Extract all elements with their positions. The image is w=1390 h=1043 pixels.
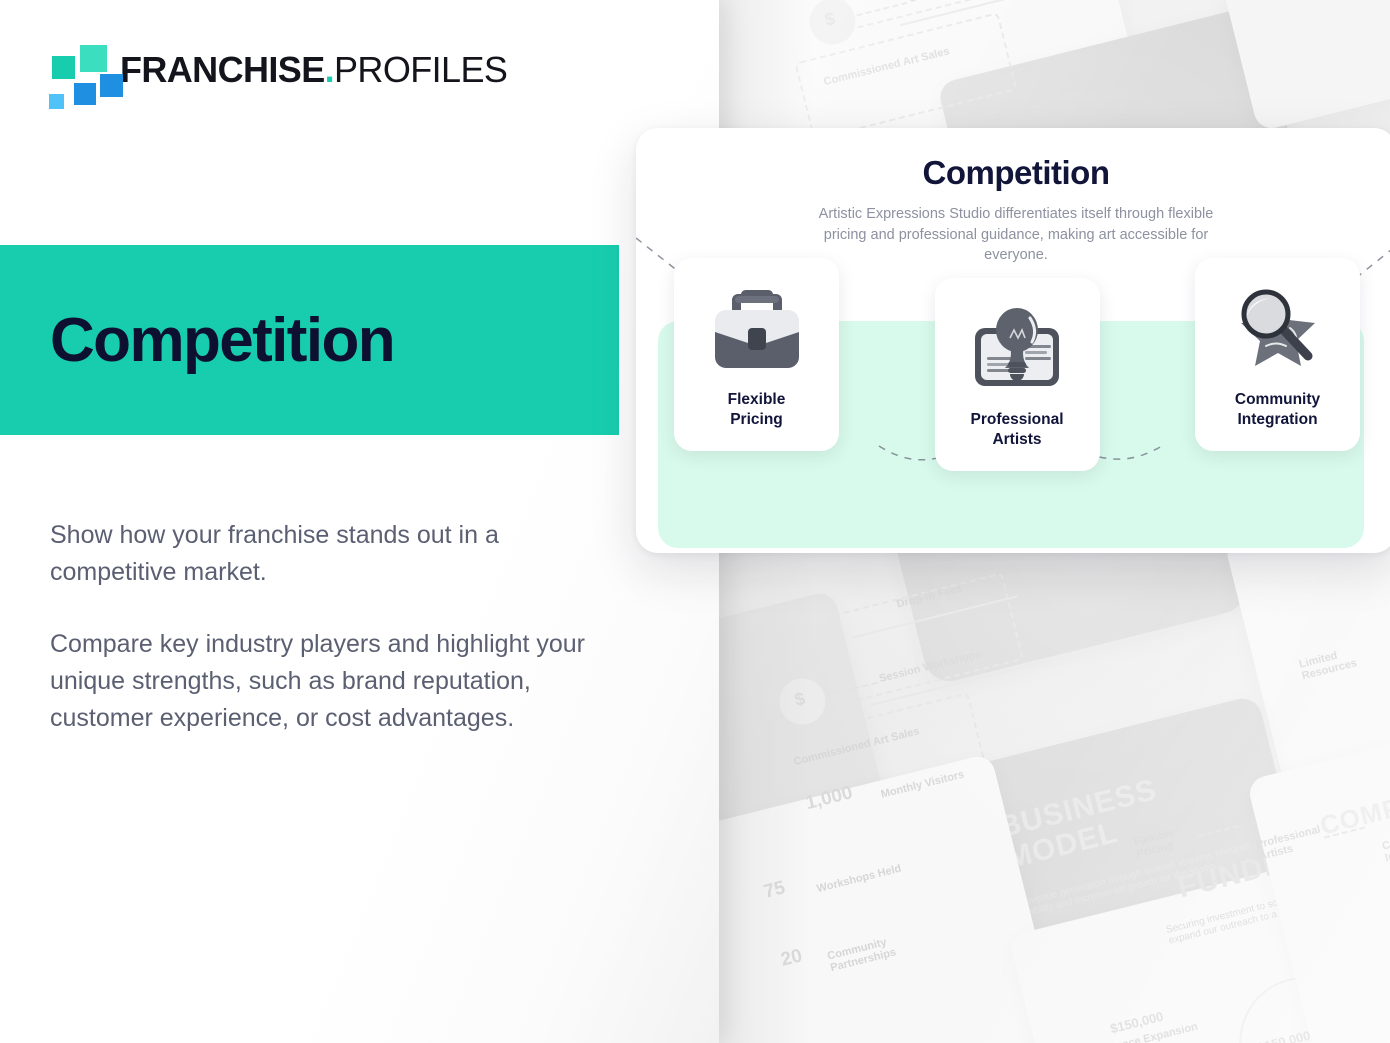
page-title: Competition [50, 305, 394, 376]
feature-card-flexible-pricing[interactable]: Flexible Pricing [674, 258, 839, 451]
brand-name-light: PROFILES [334, 49, 507, 90]
feature-card-community-integration[interactable]: Community Integration [1195, 258, 1360, 451]
brand-name-dot: . [325, 49, 334, 90]
feature-label: Community Integration [1235, 390, 1320, 431]
body-paragraph-2: Compare key industry players and highlig… [50, 626, 616, 737]
squares-logo-icon [48, 44, 104, 96]
feature-label: Professional Artists [970, 410, 1063, 451]
section-banner: Competition [0, 245, 619, 435]
feature-card-professional-artists[interactable]: Professional Artists [935, 278, 1100, 471]
feature-label-line1: Professional [970, 411, 1063, 428]
body-copy: Show how your franchise stands out in a … [50, 517, 616, 737]
feature-label-line2: Integration [1237, 411, 1317, 428]
feature-label-line1: Community [1235, 391, 1320, 408]
brand-name-bold: FRANCHISE [120, 49, 325, 90]
slide-subtitle: Artistic Expressions Studio differentiat… [816, 204, 1216, 266]
brand-logo[interactable]: FRANCHISE.PROFILES [48, 44, 507, 96]
feature-label: Flexible Pricing [728, 390, 786, 431]
slide-root: BUSINESS MODEL Drop-In Fees $ Session Wo… [0, 0, 1390, 1043]
slide-title: Competition [636, 154, 1390, 192]
feature-label-line2: Artists [992, 431, 1041, 448]
magnifier-star-icon [1224, 280, 1332, 380]
body-paragraph-1: Show how your franchise stands out in a … [50, 517, 616, 591]
left-panel: FRANCHISE.PROFILES Competition Show how … [0, 0, 719, 1043]
feature-label-line2: Pricing [730, 411, 783, 428]
feature-label-line1: Flexible [728, 391, 786, 408]
lightbulb-document-icon [963, 300, 1071, 400]
briefcase-icon [703, 280, 811, 380]
brand-wordmark: FRANCHISE.PROFILES [120, 52, 507, 88]
feature-card-row: Flexible Pricing [674, 258, 1360, 488]
slide-preview-card[interactable]: Competition Artistic Expressions Studio … [636, 128, 1390, 553]
